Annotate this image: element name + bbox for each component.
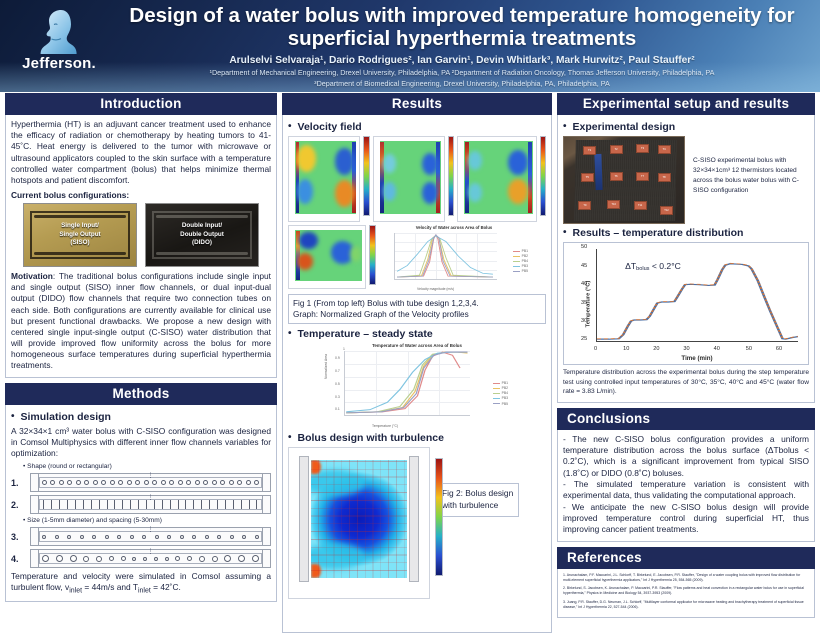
tlegend-pb3: PB3 — [502, 396, 508, 400]
siso-caption: Single Input/ Single Output (SISO) — [59, 222, 100, 248]
bolus-photo-row: Single Input/ Single Output (SISO) Doubl… — [11, 203, 271, 267]
references-heading: References — [557, 547, 815, 569]
experimental-heading: Experimental setup and results — [557, 93, 815, 115]
velocity-xaxis-label: Velocity magnitude (m/s) — [417, 287, 454, 291]
sim3-field — [464, 141, 532, 214]
sim1-field — [295, 141, 356, 214]
affiliation-line-1: ¹Department of Mechanical Engineering, D… — [112, 68, 812, 77]
section-experimental: Experimental setup and results • Experim… — [557, 93, 815, 403]
temperature-distribution-label: Results – temperature distribution — [573, 227, 744, 239]
photo-siso-bolus: Single Input/ Single Output (SISO) — [23, 203, 137, 267]
temperature-steady-label: Temperature – steady state — [298, 328, 433, 340]
dido-caption-l3: (DIDO) — [192, 239, 212, 246]
methods-heading: Methods — [5, 383, 277, 405]
siso-caption-l3: (SISO) — [70, 239, 89, 246]
tube3-inlet-marker-icon: ⋮ — [148, 526, 154, 533]
results-body: • Velocity field — [282, 115, 552, 633]
dido-tube-bottom — [156, 252, 248, 255]
dido-caption: Double Input/ Double Output (DIDO) — [180, 222, 224, 248]
poster-title: Design of a water bolus with improved te… — [112, 4, 812, 51]
results-bullet-velocity: • Velocity field — [288, 121, 546, 133]
methods-closing-c: = 42˚C. — [151, 582, 181, 592]
temp-dist-plot-area: 50 45 40 35 30 25 0 10 20 30 40 50 — [596, 249, 798, 342]
siso-tube-bottom — [34, 252, 126, 255]
annot-delta: ΔT — [625, 261, 636, 271]
tube-design-4: 4. ⋮ — [11, 549, 271, 568]
poster-root: Jefferson. Design of a water bolus with … — [0, 0, 820, 615]
velocity-field-row-1 — [288, 136, 546, 222]
tube1-inlet-marker-icon: ⋮ — [148, 472, 154, 479]
experimental-design-label: Experimental design — [573, 121, 676, 133]
sim-image-design-3 — [457, 136, 536, 222]
velocity-field-row-2: Velocity of Water across Area of Bolus — [288, 225, 546, 291]
dido-caption-l2: Double Output — [180, 231, 224, 238]
methods-closing-b: = 44m/s and T — [82, 582, 138, 592]
introduction-paragraph: Hyperthermia (HT) is an adjuvant cancer … — [11, 119, 271, 186]
poster-header: Jefferson. Design of a water bolus with … — [0, 0, 820, 92]
temp-yaxis-label: Normalized Area — [324, 354, 328, 379]
subbullet-size-text: Size (1-5mm diameter) and spacing (5-30m… — [27, 517, 162, 524]
turb-left-rail — [299, 456, 309, 582]
tube3-end-right — [262, 528, 263, 545]
legend-pb2: PB2 — [522, 254, 528, 258]
subbullet-shape-text: Shape (round or rectangular) — [27, 463, 112, 470]
methods-closing: Temperature and velocity were simulated … — [11, 571, 271, 596]
velocity-curves — [395, 233, 497, 279]
sim1-colorbar — [363, 136, 370, 216]
temp-chart-title: Temperature of Water across Area of Bolu… — [322, 343, 512, 348]
tlegend-pb2: PB2 — [502, 386, 508, 390]
sim-image-design-2 — [373, 136, 445, 222]
results-heading: Results — [282, 93, 552, 115]
sim-image-design-1 — [288, 136, 360, 222]
turb-velocity-field — [311, 460, 407, 578]
tlegend-pb4: PB4 — [502, 391, 508, 395]
sim3-colorbar — [540, 136, 547, 216]
methods-subbullet-size: • Size (1-5mm diameter) and spacing (5-3… — [23, 517, 271, 524]
experimental-bullet-design: • Experimental design — [563, 121, 809, 133]
sim2-colorbar — [448, 136, 455, 216]
tube2-inlet-marker-icon: ⋮ — [148, 494, 154, 501]
experimental-bolus-photo: T1 T2 T3 T4 T5 T6 T7 T8 T9 T10 T11 T12 — [563, 136, 685, 224]
references-body: 1. Arunachalam, P.F. Maccarini, J.L. Sch… — [557, 569, 815, 619]
tube-diagram-1: ⋮ — [30, 473, 271, 492]
blue-ruler-strip — [595, 154, 603, 190]
reference-item-3: 3. Juang, P.R. Stauffer, D.G. Neuman, J.… — [563, 600, 809, 611]
tube-design-1: 1. ⋮ — [11, 473, 271, 492]
methods-bullet-label: Simulation design — [21, 411, 111, 423]
author-list: Arulselvi Selvaraja¹, Dario Rodrigues², … — [112, 55, 812, 66]
tube-design-3: 3. ⋮ — [11, 527, 271, 546]
motivation-label: Motivation — [11, 271, 53, 281]
bullet-dot-icon: • — [563, 121, 567, 132]
bullet-dot-icon: • — [11, 411, 15, 422]
config-label: Current bolus configurations: — [11, 190, 271, 200]
section-introduction: Introduction Hyperthermia (HT) is an adj… — [5, 93, 277, 378]
tube2-end-right — [262, 496, 263, 513]
section-methods: Methods • Simulation design A 32×34×1 cm… — [5, 383, 277, 603]
sim4-field — [295, 230, 362, 281]
temp-dist-caption: Temperature distribution across the expe… — [563, 368, 809, 397]
legend-pb4: PB4 — [522, 259, 528, 263]
introduction-heading: Introduction — [5, 93, 277, 115]
section-results: Results • Velocity field — [282, 93, 552, 633]
methods-subbullet-shape: • Shape (round or rectangular) — [23, 463, 271, 470]
tube-diagram-2: ⋮ — [30, 495, 271, 514]
velocity-profile-chart: Velocity of Water across Area of Bolus — [379, 225, 529, 291]
section-conclusions: Conclusions - The new C-SISO bolus confi… — [557, 408, 815, 542]
bullet-dot-icon: • — [288, 432, 292, 443]
experimental-bullet-results: • Results – temperature distribution — [563, 227, 809, 239]
siso-tube-top — [34, 215, 126, 218]
legend-pb1: PB1 — [522, 249, 528, 253]
tube-diagram-3: ⋮ — [30, 527, 271, 546]
reference-item-2: 2. Birkelund, S. Jacobsen, K. Arunachala… — [563, 586, 809, 597]
title-block: Design of a water bolus with improved te… — [112, 4, 812, 88]
conclusions-heading: Conclusions — [557, 408, 815, 430]
reference-item-1: 1. Arunachalam, P.F. Maccarini, J.L. Sch… — [563, 573, 809, 584]
annot-rest: < 0.2°C — [649, 261, 680, 271]
turb-right-rail — [409, 456, 419, 582]
turbulence-label: Bolus design with turbulence — [298, 432, 444, 444]
tube-number-1: 1. — [11, 478, 23, 488]
results-bullet-turbulence: • Bolus design with turbulence — [288, 432, 546, 444]
experimental-photo-row: T1 T2 T3 T4 T5 T6 T7 T8 T9 T10 T11 T12 — [563, 136, 809, 224]
conclusions-body: - The new C-SISO bolus configuration pro… — [557, 430, 815, 542]
fig1-line2: Graph: Normalized Graph of the Velocity … — [293, 309, 541, 320]
turb-colorbar — [435, 458, 443, 576]
sim4-colorbar — [369, 225, 376, 285]
conclusion-item-1: - The new C-SISO bolus configuration pro… — [563, 434, 809, 479]
delta-t-annotation: ΔTbolus < 0.2°C — [625, 261, 681, 271]
methods-bullet-simulation: • Simulation design — [11, 411, 271, 423]
siso-caption-l2: Single Output — [59, 231, 100, 238]
tube-number-2: 2. — [11, 500, 23, 510]
tube-number-3: 3. — [11, 532, 23, 542]
tube4-end-right — [262, 550, 263, 567]
methods-sub-inlet-1: inlet — [69, 588, 82, 595]
velocity-field-label: Velocity field — [298, 121, 362, 133]
fig2-line2: with turbulence — [442, 500, 513, 512]
sim2-field — [380, 141, 441, 214]
conclusion-item-3: - We anticipate the new C-SISO bolus des… — [563, 502, 809, 536]
dido-tube-top — [156, 215, 248, 218]
tube4-inlet-marker-icon: ⋮ — [148, 548, 154, 555]
column-left: Introduction Hyperthermia (HT) is an adj… — [5, 93, 277, 615]
annot-sub: bolus — [636, 266, 649, 272]
tube1-end-right — [262, 474, 263, 491]
tube-design-2: 2. ⋮ — [11, 495, 271, 514]
column-middle: Results • Velocity field — [282, 93, 552, 615]
column-right: Experimental setup and results • Experim… — [557, 93, 815, 615]
affiliation-line-2: ³Department of Biomedical Engineering, D… — [112, 79, 812, 88]
fig1-line1: Fig 1 (From top left) Bolus with tube de… — [293, 298, 541, 309]
motivation-text: : The traditional bolus configurations i… — [11, 271, 271, 370]
tube-number-4: 4. — [11, 554, 23, 564]
tlegend-pb5: PB5 — [502, 402, 508, 406]
jefferson-profile-logo-icon — [37, 8, 81, 54]
photo-dido-bolus: Double Input/ Double Output (DIDO) — [145, 203, 259, 267]
velocity-chart-legend: PB1 PB2 PB4 PB3 PB5 — [513, 249, 528, 275]
jefferson-logo: Jefferson. — [6, 8, 112, 84]
temperature-chart-legend: PB1 PB2 PB4 PB3 PB5 — [493, 381, 508, 407]
sim-image-design-4 — [288, 225, 366, 289]
fig2-line1: Fig 2: Bolus design — [442, 488, 513, 500]
section-references: References 1. Arunachalam, P.F. Maccarin… — [557, 547, 815, 619]
methods-paragraph: A 32×34×1 cm³ water bolus with C-SISO co… — [11, 426, 271, 460]
motivation-paragraph: Motivation: The traditional bolus config… — [11, 271, 271, 372]
fig2-caption-wrap: Fig 2: Bolus design with turbulence — [436, 447, 519, 517]
turbulence-figure-row: Fig 2: Bolus design with turbulence — [288, 447, 546, 599]
introduction-body: Hyperthermia (HT) is an adjuvant cancer … — [5, 115, 277, 378]
temperature-distribution-chart: Temperature (°C) 50 45 40 35 30 25 — [563, 242, 809, 365]
logo-text: Jefferson. — [22, 55, 96, 72]
siso-caption-l1: Single Input/ — [61, 222, 99, 229]
bullet-dot-icon: • — [288, 328, 292, 339]
poster-columns: Introduction Hyperthermia (HT) is an adj… — [0, 93, 820, 615]
experimental-body: • Experimental design T1 T2 T3 T4 T5 T — [557, 115, 815, 403]
legend-pb3: PB3 — [522, 264, 528, 268]
temp-dist-xlabel: Time (min) — [596, 355, 798, 362]
temp-xaxis-label: Temperature (°C) — [372, 424, 398, 428]
temperature-steady-chart: Temperature of Water across Area of Bolu… — [322, 343, 512, 429]
methods-body: • Simulation design A 32×34×1 cm³ water … — [5, 405, 277, 603]
dido-caption-l1: Double Input/ — [182, 222, 222, 229]
methods-sub-inlet-2: inlet — [138, 588, 151, 595]
bullet-dot-icon: • — [563, 227, 567, 238]
turbulence-simulation-image — [288, 447, 430, 599]
experimental-photo-caption: C-SISO experimental bolus with 32×34×1cm… — [693, 136, 809, 196]
conclusion-item-2: - The simulated temperature variation is… — [563, 479, 809, 502]
figure-1-caption: Fig 1 (From top left) Bolus with tube de… — [288, 294, 546, 324]
legend-pb5: PB5 — [522, 269, 528, 273]
tube-diagram-4: ⋮ — [30, 549, 271, 568]
temperature-curves — [345, 351, 470, 415]
velocity-chart-title: Velocity of Water across Area of Bolus — [379, 225, 529, 230]
results-bullet-temperature: • Temperature – steady state — [288, 328, 546, 340]
bullet-dot-icon: • — [288, 121, 292, 132]
figure-2-caption: Fig 2: Bolus design with turbulence — [436, 483, 519, 517]
tlegend-pb1: PB1 — [502, 381, 508, 385]
